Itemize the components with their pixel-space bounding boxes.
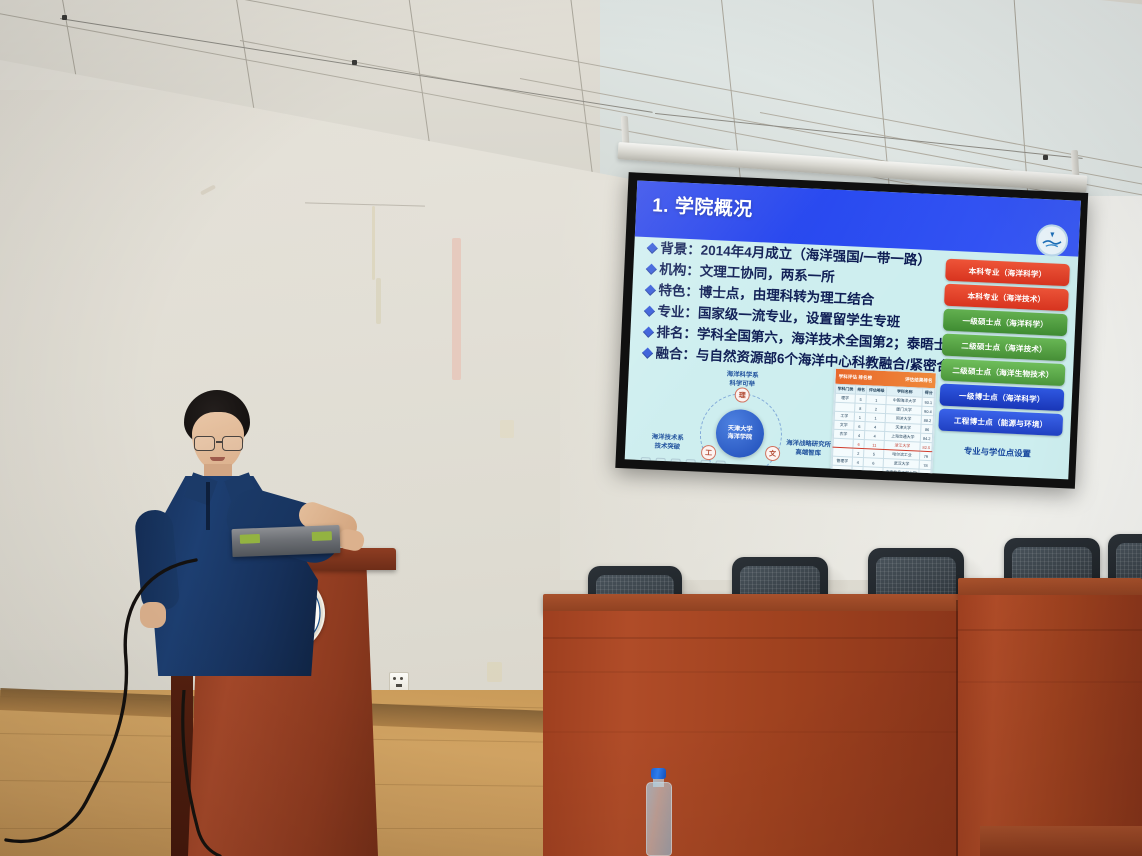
ranking-grid: 学科门类 排名 评估等级 学科名称 得分 理学51中国海洋大学93.182厦门大… <box>831 384 935 479</box>
diamond-bullet-icon <box>643 327 654 338</box>
bullet-label: 专业： <box>657 302 698 323</box>
table-cell: 南京信息工程大学 <box>883 467 920 478</box>
diamond-bullet-icon <box>644 306 655 317</box>
mouth <box>210 457 225 461</box>
conference-table-second-row[interactable] <box>980 826 1142 856</box>
tool-icon[interactable] <box>640 457 650 467</box>
conference-table-rear[interactable] <box>958 578 1142 856</box>
slide-bullet-list: 背景： 2014年4月成立（海洋强国/一带一路） 机构： 文理工协同，两系一所 … <box>643 238 978 379</box>
degree-pill: 本科专业（海洋科学） <box>945 259 1070 287</box>
wall-tape-mark <box>452 238 461 380</box>
tool-icon[interactable] <box>655 458 665 468</box>
degree-pill: 一级博士点（海洋科学） <box>939 384 1064 412</box>
bullet-label: 融合： <box>655 344 696 365</box>
wood-grain <box>543 731 963 733</box>
table-cell: 77 <box>919 469 931 479</box>
degree-pill: 二级硕士点（海洋生物技术） <box>941 359 1066 387</box>
pencil-icon[interactable] <box>670 458 680 468</box>
degree-pill: 一级硕士点（海洋科学） <box>943 309 1068 337</box>
glasses-right-lens <box>222 436 243 451</box>
table-cell: 4 <box>853 430 865 440</box>
wall-patch <box>500 420 514 438</box>
wood-grain <box>543 637 963 639</box>
bullet-label: 背景： <box>660 239 701 260</box>
table-cell: 11 <box>863 467 883 477</box>
degree-pill: 本科专业（海洋技术） <box>944 284 1069 312</box>
table-cell: 8 <box>851 466 863 476</box>
table-seam <box>956 600 958 856</box>
discipline-ranking-table: 学科评估 排名榜 评估结果排名 学科门类 排名 评估等级 学科名称 得分 理学5… <box>830 368 937 480</box>
cable-clip <box>62 15 67 20</box>
diamond-bullet-icon <box>646 264 657 275</box>
outlet-hole <box>396 684 402 687</box>
projector-screen[interactable]: 1. 学院概况 背景： 2014年4月成立（海洋强国/一带一路） <box>615 172 1088 489</box>
laptop-sticker <box>240 534 260 544</box>
bottle-body <box>646 782 672 856</box>
org-center-line2: 海洋学院 <box>727 433 752 441</box>
shirt-placket <box>206 482 210 530</box>
bullet-label: 排名： <box>656 323 697 344</box>
org-center-line1: 天津大学 <box>728 425 753 433</box>
org-label-left-line2: 技术突破 <box>641 442 693 452</box>
outlet-hole <box>400 677 403 680</box>
slide-title: 1. 学院概况 <box>652 190 754 222</box>
bullet-label: 机构： <box>659 260 700 281</box>
degree-pill: 工程博士点（能源与环境） <box>938 408 1063 436</box>
right-hand <box>336 528 366 553</box>
diamond-bullet-icon <box>642 348 653 359</box>
left-hand <box>140 602 166 628</box>
table-header-left: 学科评估 排名榜 <box>839 373 873 381</box>
laptop-sticker <box>312 531 332 541</box>
org-structure-diagram: 海洋科学系 科学可举 天津大学 海洋学院 理 工 文 海洋技术系 技术突破 海洋… <box>640 367 840 476</box>
bullet-label: 特色： <box>658 281 699 302</box>
table-front-panel <box>543 611 963 856</box>
table-header-right: 评估结果排名 <box>905 376 933 383</box>
org-label-right-line2: 高端智库 <box>779 448 837 459</box>
glasses-left-lens <box>194 436 215 451</box>
presentation-slide: 1. 学院概况 背景： 2014年4月成立（海洋强国/一带一路） <box>625 181 1081 480</box>
bottle-cap <box>651 768 666 779</box>
conference-table-front[interactable] <box>543 594 963 856</box>
table-front-panel <box>958 595 1142 856</box>
wood-grain <box>958 681 1142 683</box>
wood-grain <box>543 671 963 673</box>
glasses-bridge <box>216 441 222 443</box>
gear-icon[interactable] <box>715 460 725 470</box>
column-header: 排名 <box>855 385 867 395</box>
grid-icon[interactable] <box>700 460 710 470</box>
wall-tape-mark <box>372 206 375 280</box>
wood-grain <box>958 629 1142 631</box>
wall-patch <box>487 662 502 682</box>
degree-pill: 二级硕士点（海洋技术） <box>942 334 1067 362</box>
table-cell <box>832 465 852 475</box>
crop-icon[interactable] <box>685 459 695 469</box>
lecture-room-photo: 1. 学院概况 背景： 2014年4月成立（海洋强国/一带一路） <box>0 0 1142 856</box>
cable-clip <box>1043 155 1048 160</box>
diamond-bullet-icon <box>645 285 656 296</box>
ranking-body: 理学51中国海洋大学93.182厦门大学90.4工学11同济大学88.2文学64… <box>832 393 935 478</box>
cable-clip <box>352 60 357 65</box>
degree-list-caption: 专业与学位点设置 <box>935 443 1059 461</box>
diamond-bullet-icon <box>647 243 658 254</box>
degree-program-list: 本科专业（海洋科学） 本科专业（海洋技术） 一级硕士点（海洋科学） 二级硕士点（… <box>938 259 1070 436</box>
laptop[interactable] <box>232 525 341 557</box>
wall-tape-mark <box>376 278 381 324</box>
